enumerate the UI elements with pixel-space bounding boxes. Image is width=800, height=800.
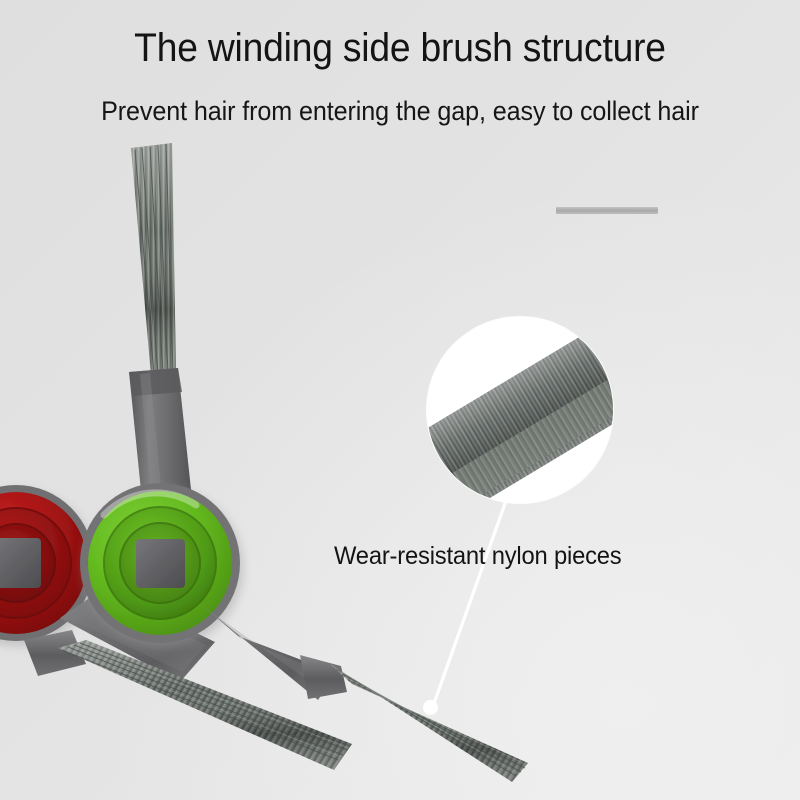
callout-label: Wear-resistant nylon pieces [334, 542, 621, 571]
leader-endpoint-dot [423, 700, 438, 715]
grey-dash-marker [556, 207, 658, 214]
page-subtitle: Prevent hair from entering the gap, easy… [28, 96, 772, 127]
page-title: The winding side brush structure [28, 26, 772, 71]
product-feature-banner: The winding side brush structure Prevent… [0, 0, 800, 800]
